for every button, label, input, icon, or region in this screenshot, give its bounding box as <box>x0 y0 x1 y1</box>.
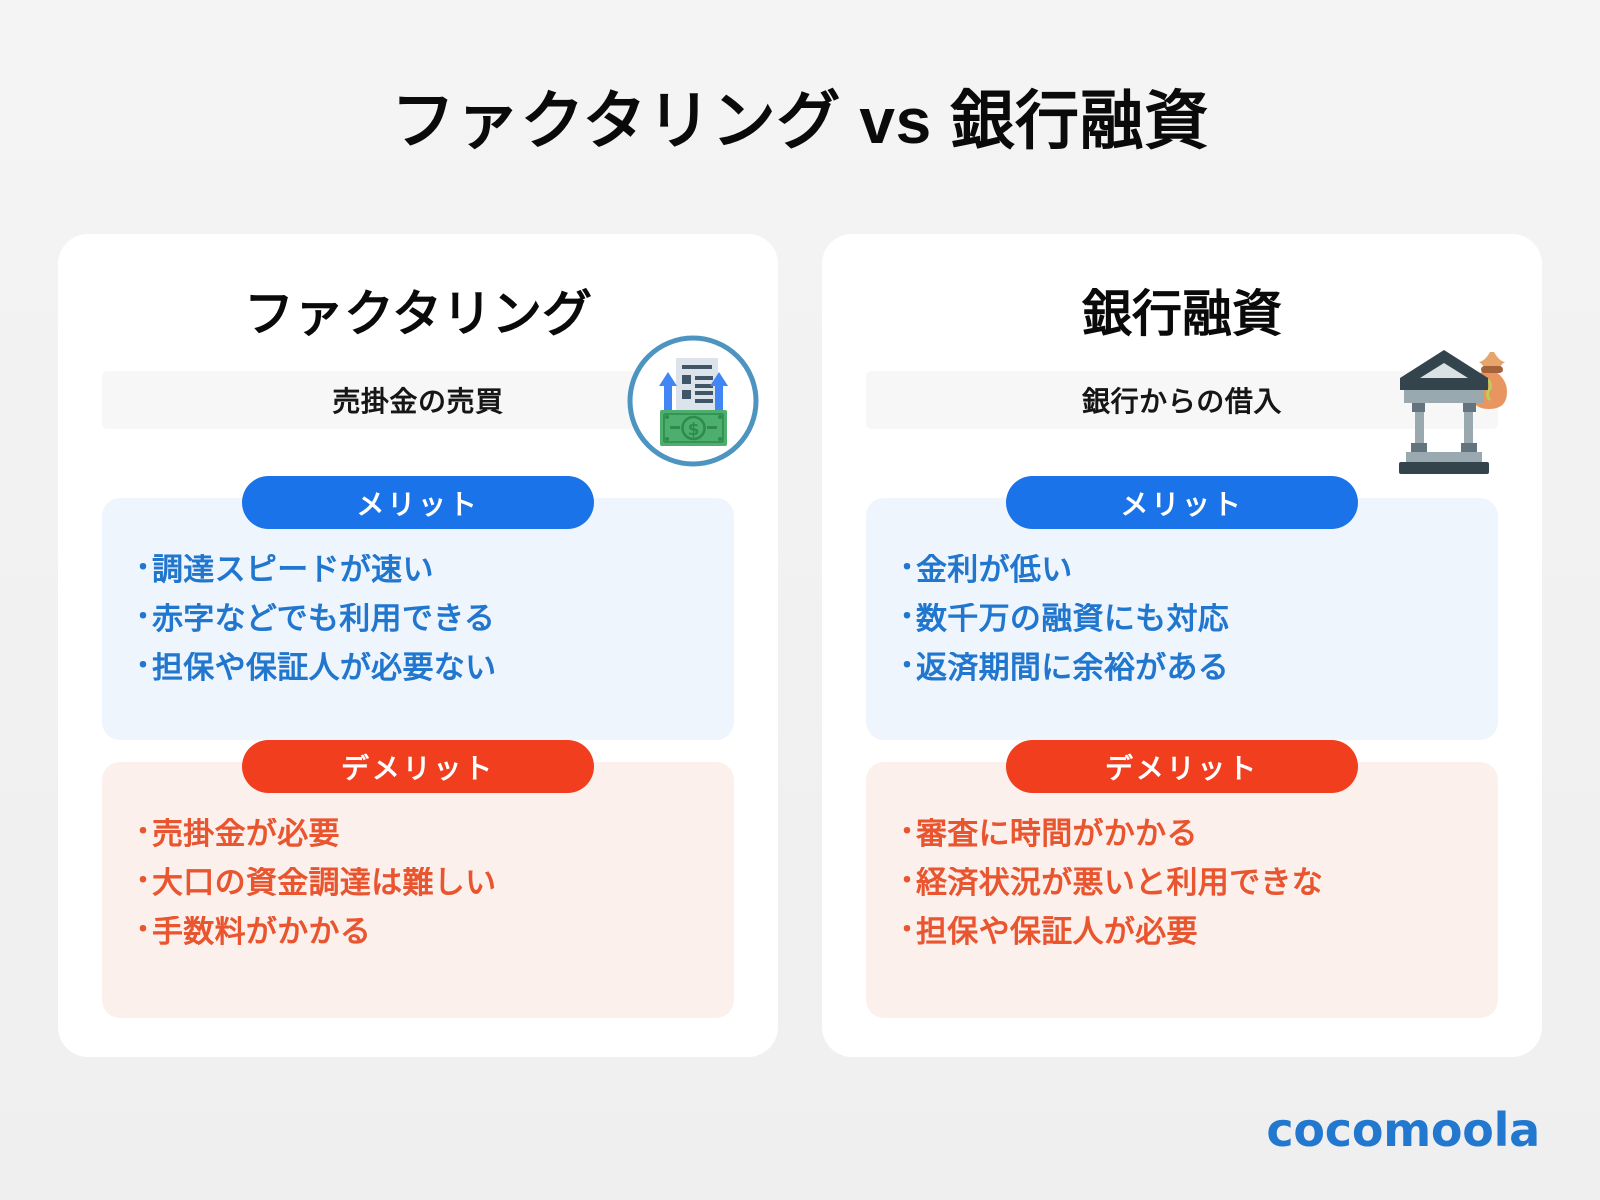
cocomoola-logo: cocomoola <box>1266 1102 1540 1158</box>
list-item-label: 手数料がかかる <box>152 916 371 947</box>
card-factoring-subtitle: 売掛金の売買 <box>58 371 778 429</box>
list-item: ・審査に時間がかかる <box>894 818 1480 849</box>
list-item: ・大口の資金調達は難しい <box>130 867 716 898</box>
card-factoring: ファクタリング 売掛金の売買 <box>58 234 778 1057</box>
list-item: ・返済期間に余裕がある <box>894 652 1480 683</box>
list-item-label: 数千万の融資にも対応 <box>916 603 1229 634</box>
bullet-marker-icon: ・ <box>130 652 152 679</box>
list-item-label: 金利が低い <box>916 554 1073 585</box>
bullet-marker-icon: ・ <box>130 554 152 581</box>
card-bank-loan: 銀行融資 銀行からの借入 <box>822 234 1542 1057</box>
bank-loan-merit-list: ・金利が低い ・数千万の融資にも対応 ・返済期間に余裕がある <box>894 554 1480 701</box>
comparison-cards: ファクタリング 売掛金の売買 <box>58 234 1542 1057</box>
bank-loan-merit-badge: メリット <box>1006 476 1358 529</box>
factoring-merit-list: ・調達スピードが速い ・赤字などでも利用できる ・担保や保証人が必要ない <box>130 554 716 701</box>
bullet-marker-icon: ・ <box>894 867 916 894</box>
list-item-label: 経済状況が悪いと利用できな <box>916 867 1323 898</box>
bullet-marker-icon: ・ <box>130 818 152 845</box>
cocomoola-logo-text: cocomoola <box>1266 1103 1540 1157</box>
bullet-marker-icon: ・ <box>894 554 916 581</box>
infographic-page: ファクタリング vs 銀行融資 ファクタリング 売掛金の売買 <box>0 0 1600 1200</box>
list-item-label: 返済期間に余裕がある <box>916 652 1229 683</box>
factoring-merit-badge: メリット <box>242 476 594 529</box>
factoring-demerit-section: デメリット ・売掛金が必要 ・大口の資金調達は難しい ・手数料がかかる <box>102 762 734 1018</box>
card-factoring-title: ファクタリング <box>58 286 778 344</box>
list-item-label: 売掛金が必要 <box>152 818 340 849</box>
bank-loan-demerit-list: ・審査に時間がかかる ・経済状況が悪いと利用できな ・担保や保証人が必要 <box>894 818 1480 965</box>
list-item-label: 担保や保証人が必要 <box>916 916 1198 947</box>
factoring-demerit-badge: デメリット <box>242 740 594 793</box>
list-item: ・調達スピードが速い <box>130 554 716 585</box>
list-item-label: 赤字などでも利用できる <box>152 603 495 634</box>
card-bank-loan-title: 銀行融資 <box>822 286 1542 344</box>
list-item: ・経済状況が悪いと利用できな <box>894 867 1480 898</box>
bullet-marker-icon: ・ <box>894 603 916 630</box>
bullet-marker-icon: ・ <box>130 603 152 630</box>
list-item-label: 大口の資金調達は難しい <box>152 867 496 898</box>
list-item: ・担保や保証人が必要 <box>894 916 1480 947</box>
list-item: ・担保や保証人が必要ない <box>130 652 716 683</box>
page-title: ファクタリング vs 銀行融資 <box>0 86 1600 158</box>
bullet-marker-icon: ・ <box>894 818 916 845</box>
list-item-label: 担保や保証人が必要ない <box>152 652 496 683</box>
factoring-merit-section: メリット ・調達スピードが速い ・赤字などでも利用できる ・担保や保証人が必要な… <box>102 498 734 740</box>
card-bank-loan-subtitle: 銀行からの借入 <box>822 371 1542 429</box>
list-item: ・売掛金が必要 <box>130 818 716 849</box>
bullet-marker-icon: ・ <box>130 867 152 894</box>
bank-loan-demerit-badge: デメリット <box>1006 740 1358 793</box>
factoring-demerit-list: ・売掛金が必要 ・大口の資金調達は難しい ・手数料がかかる <box>130 818 716 965</box>
bank-loan-demerit-section: デメリット ・審査に時間がかかる ・経済状況が悪いと利用できな ・担保や保証人が… <box>866 762 1498 1018</box>
list-item: ・赤字などでも利用できる <box>130 603 716 634</box>
list-item-label: 調達スピードが速い <box>152 554 434 585</box>
bullet-marker-icon: ・ <box>130 916 152 943</box>
bank-loan-merit-section: メリット ・金利が低い ・数千万の融資にも対応 ・返済期間に余裕がある <box>866 498 1498 740</box>
list-item: ・数千万の融資にも対応 <box>894 603 1480 634</box>
bullet-marker-icon: ・ <box>894 652 916 679</box>
list-item: ・金利が低い <box>894 554 1480 585</box>
list-item-label: 審査に時間がかかる <box>916 818 1198 849</box>
list-item: ・手数料がかかる <box>130 916 716 947</box>
bullet-marker-icon: ・ <box>894 916 916 943</box>
